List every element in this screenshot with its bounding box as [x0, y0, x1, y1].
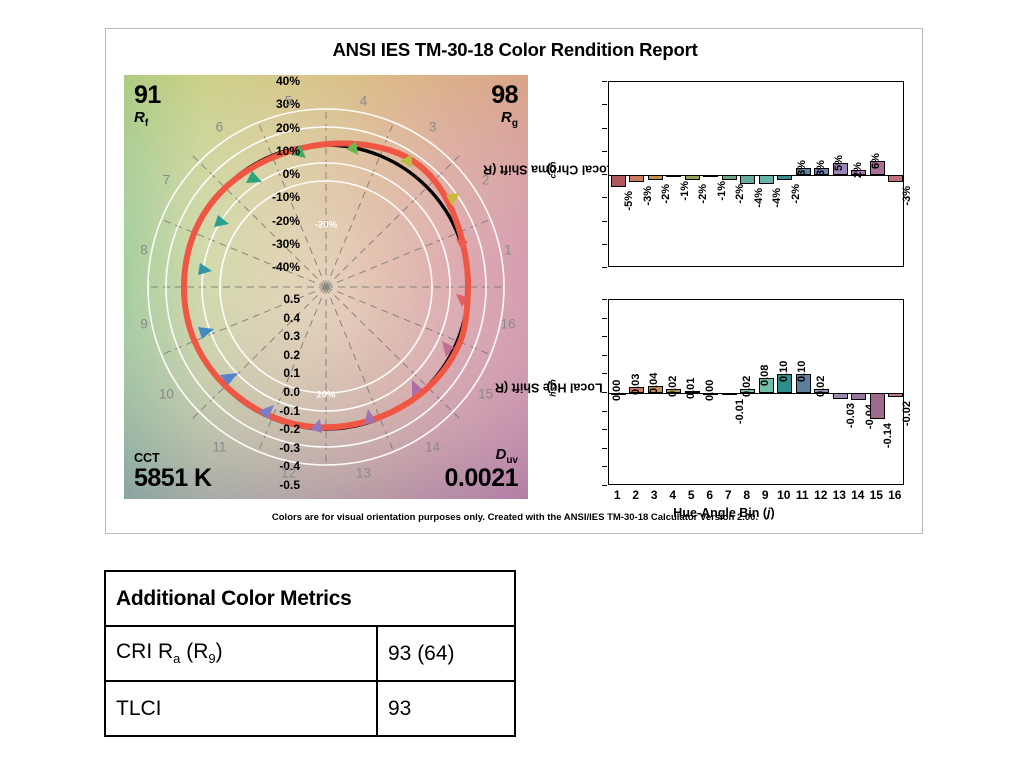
additional-color-metrics-table: Additional Color MetricsCRI Ra (R9)93 (6… [104, 570, 516, 737]
chroma-plot-area: -5%-3%-2%-1%-2%-1%-2%-4%-4%-2%3%3%5%2%6%… [608, 81, 904, 267]
y-tick-mark [602, 485, 607, 486]
bar-bin-16 [888, 393, 903, 397]
metric-value-cell: 93 [377, 681, 515, 736]
y-tick-mark [602, 299, 607, 300]
y-tick-label: -0.3 [236, 441, 300, 455]
y-tick-label: -20% [236, 214, 300, 228]
hue-bin-number-9: 9 [140, 317, 148, 332]
hue-bin-number-6: 6 [216, 120, 224, 135]
bar-label-bin-9: 0.08 [759, 365, 771, 386]
y-tick-label: 20% [236, 121, 300, 135]
bar-label-bin-5: -2% [697, 184, 709, 204]
bar-label-bin-10: -2% [790, 184, 802, 204]
y-tick-mark [602, 336, 607, 337]
y-tick-mark [602, 466, 607, 467]
bar-label-bin-4: 0.02 [667, 376, 679, 397]
color-vector-graphic: 91 Rf 98 Rg CCT 5851 K Duv 0.0021 123456… [124, 75, 528, 499]
rf-label: Rf [134, 109, 161, 130]
y-tick-mark [602, 104, 607, 105]
rg-metric: 98 Rg [491, 83, 518, 130]
y-tick-mark [602, 392, 607, 393]
bar-bin-6 [703, 175, 718, 177]
hue-bin-number-2: 2 [482, 173, 490, 188]
y-tick-label: 40% [236, 74, 300, 88]
x-tick-label-13: 13 [833, 488, 846, 502]
y-tick-label: 0.5 [236, 292, 300, 306]
rg-value: 98 [491, 83, 518, 108]
rf-value: 91 [134, 83, 161, 108]
y-tick-label: 10% [236, 144, 300, 158]
bar-label-bin-13: 5% [833, 155, 845, 171]
bar-label-bin-5: 0.01 [685, 378, 697, 399]
bar-bin-4 [666, 175, 681, 177]
color-rendition-report-panel: ANSI IES TM-30-18 Color Rendition Report [105, 28, 923, 534]
table-row: TLCI93 [105, 681, 515, 736]
y-tick-mark [602, 267, 607, 268]
y-tick-mark [602, 151, 607, 152]
bar-bin-9 [759, 175, 774, 184]
x-tick-label-14: 14 [851, 488, 864, 502]
y-tick-mark [602, 411, 607, 412]
ring-label-1: 20% [316, 390, 335, 401]
y-tick-mark [602, 81, 607, 82]
x-tick-label-9: 9 [762, 488, 769, 502]
bar-bin-15 [870, 393, 885, 419]
rf-metric: 91 Rf [134, 83, 161, 130]
bar-label-bin-1: -5% [623, 191, 635, 211]
x-tick-label-16: 16 [888, 488, 901, 502]
y-tick-label: -10% [236, 190, 300, 204]
y-tick-label: 0% [236, 167, 300, 181]
x-tick-label-3: 3 [651, 488, 658, 502]
y-tick-mark [602, 355, 607, 356]
bar-label-bin-9: -4% [771, 188, 783, 208]
hue-bin-number-13: 13 [356, 466, 371, 481]
metric-name-cell: TLCI [105, 681, 377, 736]
bar-label-bin-10: 0.10 [778, 361, 790, 382]
hue-bin-number-4: 4 [360, 94, 368, 109]
chroma-y-ticks: 40%30%20%10%0%-10%-20%-30%-40% [538, 73, 608, 277]
y-tick-mark [602, 128, 607, 129]
bar-label-bin-1: 0.00 [611, 380, 623, 401]
x-tick-label-1: 1 [614, 488, 621, 502]
y-tick-label: -40% [236, 260, 300, 274]
y-tick-label: 0.3 [236, 329, 300, 343]
hue-bin-number-16: 16 [500, 317, 515, 332]
bar-label-bin-7: -0.01 [734, 399, 746, 424]
hue-bin-number-10: 10 [159, 386, 174, 401]
x-tick-label-4: 4 [669, 488, 676, 502]
x-tick-label-11: 11 [796, 488, 809, 502]
bar-label-bin-3: 0.04 [648, 372, 660, 393]
hue-bin-number-1: 1 [504, 242, 512, 257]
local-chroma-shift-chart: Local Chroma Shift (Rcs,h) 40%30%20%10%0… [538, 73, 910, 283]
bar-label-bin-15: 6% [870, 153, 882, 169]
x-tick-label-10: 10 [777, 488, 790, 502]
x-tick-label-8: 8 [743, 488, 750, 502]
y-tick-mark [602, 429, 607, 430]
hue-x-ticks: 12345678910111213141516 [608, 488, 904, 504]
metric-name-cell: CRI Ra (R9) [105, 626, 377, 681]
bar-label-bin-2: -3% [642, 186, 654, 206]
bar-bin-14 [851, 393, 866, 400]
cct-metric: CCT 5851 K [134, 452, 212, 491]
color-vector-background [124, 75, 528, 499]
bar-label-bin-11: 3% [796, 160, 808, 176]
bar-bin-16 [888, 175, 903, 182]
duv-label: Duv [445, 446, 518, 467]
footnote-text: Colors are for visual orientation purpos… [106, 512, 924, 523]
y-tick-label: -0.1 [236, 404, 300, 418]
y-tick-label: -0.2 [236, 422, 300, 436]
hue-bin-number-15: 15 [478, 386, 493, 401]
hue-y-ticks: 0.50.40.30.20.10.0-0.1-0.2-0.3-0.4-0.5 [538, 291, 608, 495]
hue-bin-number-11: 11 [212, 439, 226, 454]
local-hue-shift-chart: Local Hue Shift (Rhs,h) 0.50.40.30.20.10… [538, 291, 910, 505]
y-tick-mark [602, 244, 607, 245]
bar-label-bin-8: 0.02 [741, 376, 753, 397]
hue-bin-number-14: 14 [425, 439, 440, 454]
bar-label-bin-15: -0.14 [882, 423, 894, 448]
bar-label-bin-12: 3% [815, 160, 827, 176]
y-tick-mark [602, 318, 607, 319]
y-tick-label: 0.4 [236, 311, 300, 325]
y-tick-label: 0.2 [236, 348, 300, 362]
x-tick-label-7: 7 [725, 488, 732, 502]
bar-bin-7 [722, 393, 737, 395]
bar-label-bin-11: 0.10 [796, 361, 808, 382]
y-tick-mark [602, 221, 607, 222]
bar-bin-10 [777, 175, 792, 180]
bar-label-bin-6: -1% [716, 181, 728, 201]
x-tick-label-5: 5 [688, 488, 695, 502]
y-tick-label: 0.1 [236, 366, 300, 380]
bar-label-bin-3: -2% [660, 184, 672, 204]
hue-bin-number-3: 3 [429, 120, 437, 135]
bar-bin-5 [685, 175, 700, 180]
y-tick-label: 0.0 [236, 385, 300, 399]
page-title: ANSI IES TM-30-18 Color Rendition Report [106, 39, 924, 61]
bar-label-bin-12: 0.02 [815, 376, 827, 397]
x-tick-label-15: 15 [870, 488, 883, 502]
bar-bin-1 [611, 175, 626, 187]
y-tick-mark [602, 174, 607, 175]
bar-bin-13 [833, 393, 848, 399]
table-row: CRI Ra (R9)93 (64) [105, 626, 515, 681]
bar-label-bin-16: -0.02 [901, 401, 913, 426]
cct-value: 5851 K [134, 466, 212, 491]
bar-label-bin-13: -0.03 [845, 403, 857, 428]
y-tick-mark [602, 197, 607, 198]
x-tick-label-12: 12 [814, 488, 827, 502]
y-tick-mark [602, 448, 607, 449]
hue-bin-number-12: 12 [281, 466, 296, 481]
bar-bin-3 [648, 175, 663, 180]
x-tick-label-2: 2 [632, 488, 639, 502]
table-header-cell: Additional Color Metrics [105, 571, 515, 626]
x-tick-label-6: 6 [706, 488, 713, 502]
y-tick-label: -30% [236, 237, 300, 251]
hue-bin-number-5: 5 [285, 94, 293, 109]
bar-label-bin-7: -2% [734, 184, 746, 204]
bar-label-bin-16: -3% [901, 186, 913, 206]
ring-label-0: -20% [315, 220, 337, 231]
bar-bin-7 [722, 175, 737, 180]
duv-metric: Duv 0.0021 [445, 445, 518, 492]
bar-label-bin-4: -1% [679, 181, 691, 201]
bar-label-bin-6: 0.00 [704, 380, 716, 401]
y-tick-mark [602, 373, 607, 374]
duv-value: 0.0021 [445, 466, 518, 491]
hue-bin-number-8: 8 [140, 242, 148, 257]
bar-bin-8 [740, 175, 755, 184]
hue-bin-number-7: 7 [163, 173, 171, 188]
rg-label: Rg [491, 109, 518, 130]
hue-plot-area: 0.000.030.040.020.010.00-0.010.020.080.1… [608, 299, 904, 485]
bar-bin-2 [629, 175, 644, 182]
bar-label-bin-2: 0.03 [630, 374, 642, 395]
bar-label-bin-14: 2% [852, 162, 864, 178]
shift-charts: Local Chroma Shift (Rcs,h) 40%30%20%10%0… [538, 73, 910, 503]
metric-value-cell: 93 (64) [377, 626, 515, 681]
table-header-row: Additional Color Metrics [105, 571, 515, 626]
bar-label-bin-8: -4% [753, 188, 765, 208]
